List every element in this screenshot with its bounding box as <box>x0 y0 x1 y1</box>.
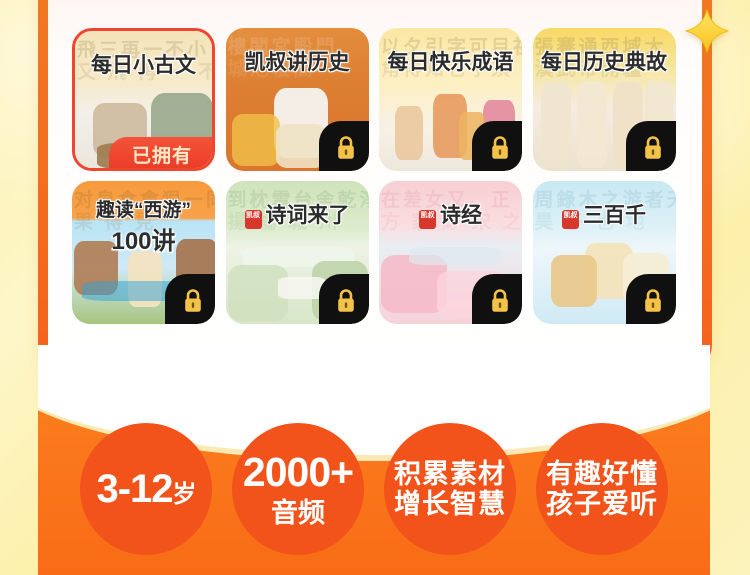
lock-icon <box>488 135 512 161</box>
course-panel: 飛三再一不小又 飛 再 一 不每日小古文已拥有樓閣宮殿門城池樓閣凯叔讲历史 以夕… <box>38 0 712 378</box>
course-card-meiri-lishi-diangu[interactable]: 張騫通西域大漢武帝開疆每日历史典故 <box>533 28 676 171</box>
feature-line-2: 孩子爱听 <box>546 489 658 519</box>
feature-main-value: 2000+ <box>243 450 353 496</box>
panel-rail-right <box>702 0 712 378</box>
highlights-panel: 3-12岁2000+音频积累素材增长智慧有趣好懂孩子爱听 <box>38 345 710 575</box>
feature-circle-benefit-material: 积累素材增长智慧 <box>384 423 516 555</box>
course-title: 每日历史典故 <box>533 46 676 76</box>
promo-page: 飛三再一不小又 飛 再 一 不每日小古文已拥有樓閣宮殿門城池樓閣凯叔讲历史 以夕… <box>0 0 750 575</box>
course-title: 趣读“西游” <box>72 195 215 222</box>
course-panel-inner: 飛三再一不小又 飛 再 一 不每日小古文已拥有樓閣宮殿門城池樓閣凯叔讲历史 以夕… <box>38 0 712 378</box>
course-card-san-bai-qian[interactable]: 周錄木之游者天昊 子 也 地凯叔三百千 <box>533 181 676 324</box>
lock-icon <box>334 288 358 314</box>
course-title: 凯叔讲历史 <box>226 46 369 76</box>
locked-badge[interactable] <box>165 274 215 324</box>
lock-icon <box>334 135 358 161</box>
lock-icon <box>641 288 665 314</box>
feature-circle-benefit-fun: 有趣好懂孩子爱听 <box>536 423 668 555</box>
course-title-text: 诗词来了 <box>266 204 350 227</box>
course-card-shijing[interactable]: 在差女又。正方 家 渺 宋 之凯叔诗经 <box>379 181 522 324</box>
artwork-shape <box>409 247 501 265</box>
lock-icon <box>488 288 512 314</box>
course-title: 凯叔诗经 <box>379 199 522 229</box>
feature-line-1: 积累素材 <box>394 459 506 489</box>
artwork-shape <box>232 114 280 166</box>
locked-badge[interactable] <box>472 274 522 324</box>
locked-badge[interactable] <box>472 121 522 171</box>
course-subtitle: 100讲 <box>72 221 215 256</box>
artwork-shape <box>395 106 423 160</box>
feature-unit: 岁 <box>173 481 196 508</box>
brand-seal-icon: 凯叔 <box>245 210 262 229</box>
course-title: 每日快乐成语 <box>379 46 522 76</box>
artwork-shape <box>541 82 571 168</box>
panel-rail-left <box>38 0 48 378</box>
artwork-shape <box>551 255 597 307</box>
feature-number: 3-12 <box>96 467 172 511</box>
feature-line-2: 增长智慧 <box>394 489 506 519</box>
lock-icon <box>641 135 665 161</box>
feature-line-1: 有趣好懂 <box>546 459 658 489</box>
feature-circle-age-range: 3-12岁 <box>80 423 212 555</box>
locked-badge[interactable] <box>626 121 676 171</box>
locked-badge[interactable] <box>626 274 676 324</box>
lock-icon <box>181 288 205 314</box>
feature-caption: 音频 <box>271 498 325 528</box>
course-card-shici-laile[interactable]: 到枕雲台舍乾淨揚 楊 城 州凯叔诗词来了 <box>226 181 369 324</box>
owned-badge: 已拥有 <box>109 137 215 171</box>
brand-seal-icon: 凯叔 <box>562 210 579 229</box>
course-card-kaishu-jiang-lishi[interactable]: 樓閣宮殿門城池樓閣凯叔讲历史 <box>226 28 369 171</box>
course-title: 凯叔诗词来了 <box>226 199 369 229</box>
artwork-shape <box>577 82 607 168</box>
feature-main-value: 3-12岁 <box>96 467 195 512</box>
brand-seal-icon: 凯叔 <box>419 210 436 229</box>
course-card-meiri-kuaile-chengyu[interactable]: 以夕引字可目祖角得知它字須每日快乐成语 <box>379 28 522 171</box>
course-title: 凯叔三百千 <box>533 199 676 229</box>
feature-circle-audio-count: 2000+音频 <box>232 423 364 555</box>
four-point-star-icon <box>684 8 730 54</box>
locked-badge[interactable] <box>319 121 369 171</box>
locked-badge[interactable] <box>319 274 369 324</box>
course-title-text: 三百千 <box>583 204 646 227</box>
course-card-qudu-xiyou-100jiang[interactable]: 对泉食會狠一同果 得 見趣读“西游”100讲 <box>72 181 215 324</box>
feature-row: 3-12岁2000+音频积累素材增长智慧有趣好懂孩子爱听 <box>38 423 710 555</box>
course-grid: 飛三再一不小又 飛 再 一 不每日小古文已拥有樓閣宮殿門城池樓閣凯叔讲历史 以夕… <box>72 28 678 324</box>
course-card-meiri-xiaoguwen[interactable]: 飛三再一不小又 飛 再 一 不每日小古文已拥有 <box>72 28 215 171</box>
course-title-text: 诗经 <box>440 204 482 227</box>
course-title: 每日小古文 <box>75 49 212 79</box>
